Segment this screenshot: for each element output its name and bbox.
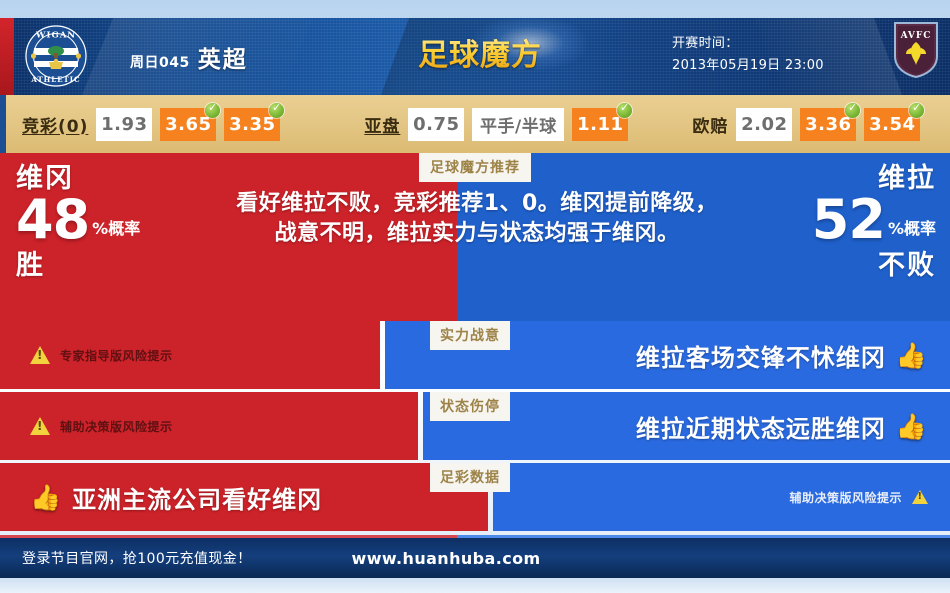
odds-group-asian: 亚盘 0.75 平手/半球 1.11 [364,108,628,141]
comparison-row: 状态伤停 辅助决策版风险提示 维拉近期状态远胜维冈 👍 [0,392,950,460]
header-red-accent [0,18,14,95]
kickoff-label: 开赛时间： [672,33,824,55]
check-badge-icon [205,103,220,118]
odds-group-jingcai: 竞彩(0) 1.93 3.65 3.35 [22,108,280,141]
row-home-note: 👍 亚洲主流公司看好维冈 [30,463,322,531]
row-category-badge: 足彩数据 [430,463,510,492]
footer-bar: 登录节目官网，抢100元充值现金！ www.huanhuba.com [0,538,950,578]
svg-text:WIGAN: WIGAN [35,31,76,41]
probability-away: 维拉 52 %概率 不败 [812,165,936,282]
odds-group-european: 欧赔 2.02 3.36 3.54 [692,108,920,141]
match-identifier: 周日045 英超 [130,40,248,74]
row-away-note: 维拉客场交锋不怵维冈 👍 [636,321,928,389]
comparison-rows: 实力战意 专家指导版风险提示 维拉客场交锋不怵维冈 👍 状态伤停 辅助决策版风险… [0,321,950,535]
row-home-note: 专家指导版风险提示 [30,321,173,389]
probability-home: 维冈 48 %概率 胜 [16,165,140,282]
kickoff-value: 2013年05月19日 23:00 [672,55,824,77]
brand-logo: 足球魔方 [418,30,542,74]
footer-promo-text: 登录节目官网，抢100元充值现金！ [22,548,252,568]
home-percent-unit: %概率 [92,215,140,245]
match-number: 周日045 [130,52,190,72]
comparison-row: 足彩数据 👍 亚洲主流公司看好维冈 辅助决策版风险提示 [0,463,950,531]
recommendation-text: 看好维拉不败，竞彩推荐1、0。维冈提前降级，战意不明，维拉实力与状态均强于维冈。 [233,189,721,250]
odds-group-label: 亚盘 [364,112,400,137]
check-badge-icon [617,103,632,118]
thumbs-up-icon: 👍 [30,485,62,510]
warning-icon [30,417,50,435]
odds-chip-jingcai-3[interactable]: 3.35 [224,108,280,141]
footer-website-url[interactable]: www.huanhuba.com [352,549,541,568]
warning-icon [30,346,50,364]
row-away-note: 维拉近期状态远胜维冈 👍 [636,392,928,460]
odds-chip-asian-1[interactable]: 0.75 [408,108,464,141]
aston-villa-crest: AVFC [892,20,940,80]
check-badge-icon [269,103,284,118]
odds-chip-euro-2[interactable]: 3.36 [800,108,856,141]
home-percent-value: 48 [16,195,89,245]
bottom-glow [0,578,950,593]
row-category-badge: 状态伤停 [430,392,510,421]
odds-chip-asian-2[interactable]: 1.11 [572,108,628,141]
wigan-athletic-crest: WIGAN ATHLETIC [24,24,88,88]
warning-icon [912,490,928,504]
check-badge-icon [845,103,860,118]
odds-group-label: 竞彩(0) [22,112,88,137]
odds-group-label: 欧赔 [692,112,728,137]
thumbs-up-icon: 👍 [896,414,928,439]
row-category-badge: 实力战意 [430,321,510,350]
thumbs-up-icon: 👍 [896,343,928,368]
odds-chip-asian-handicap[interactable]: 平手/半球 [472,108,564,141]
row-away-note: 辅助决策版风险提示 [789,463,928,531]
check-badge-icon [909,103,924,118]
odds-chip-euro-1[interactable]: 2.02 [736,108,792,141]
comparison-row: 实力战意 专家指导版风险提示 维拉客场交锋不怵维冈 👍 [0,321,950,389]
away-percent-unit: %概率 [888,215,936,245]
svg-text:AVFC: AVFC [900,31,932,41]
broadcast-graphic: WIGAN ATHLETIC AVFC 周日045 英超 足球魔方 开赛时间： … [0,0,950,593]
kickoff-time: 开赛时间： 2013年05月19日 23:00 [672,33,824,77]
odds-bar: 竞彩(0) 1.93 3.65 3.35 亚盘 0.75 平手/半球 [0,95,950,153]
away-percent-value: 52 [812,195,885,245]
league-name: 英超 [198,40,248,74]
probability-panel: 维冈 48 %概率 胜 维拉 52 %概率 不败 足球魔方推荐 看好维拉不败，竞… [0,153,950,321]
odds-chip-jingcai-2[interactable]: 3.65 [160,108,216,141]
row-home-note: 辅助决策版风险提示 [30,392,173,460]
recommendation-badge: 足球魔方推荐 [419,153,531,182]
odds-chip-jingcai-1[interactable]: 1.93 [96,108,152,141]
svg-text:ATHLETIC: ATHLETIC [30,75,80,84]
odds-chip-euro-3[interactable]: 3.54 [864,108,920,141]
